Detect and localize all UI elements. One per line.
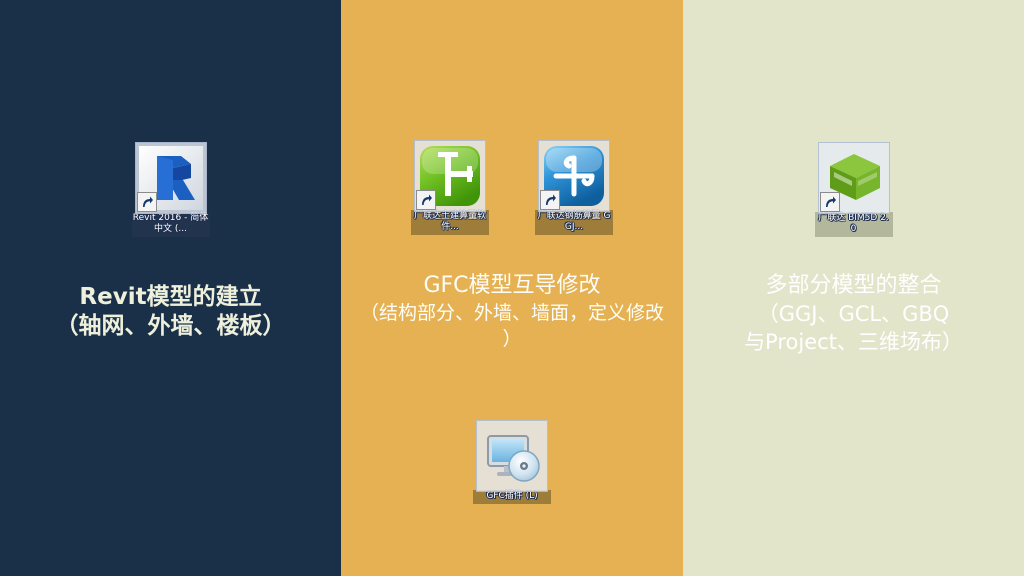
- revit-icon-art: [139, 146, 203, 210]
- desktop-icon-glodon-gangjin-ggj-shortcut[interactable]: 广联达钢筋算量 GGJ...: [534, 144, 614, 235]
- caption-line-1: GFC模型互导修改: [349, 272, 675, 300]
- caption-line-1: Revit模型的建立: [8, 283, 333, 312]
- icon-row-left: Revit 2016 - 简体中文 (...: [0, 146, 341, 237]
- caption-line-2: （轴网、外墙、楼板）: [8, 312, 333, 341]
- desktop-icon-gfc-plugin-installer[interactable]: GFC插件 (L): [472, 424, 552, 504]
- slide-root: Revit 2016 - 简体中文 (... Revit模型的建立 （轴网、外墙…: [0, 0, 1024, 576]
- caption-line-3: ）: [349, 326, 675, 352]
- caption-revit: Revit模型的建立 （轴网、外墙、楼板）: [0, 283, 341, 341]
- caption-gfc: GFC模型互导修改 （结构部分、外墙、墙面，定义修改 ）: [341, 272, 683, 352]
- icon-row-right: 广联达 BIM5D 2.0: [683, 146, 1024, 237]
- monitor-disc-icon: [480, 424, 544, 488]
- desktop-icon-revit-2016-shortcut[interactable]: Revit 2016 - 简体中文 (...: [131, 146, 211, 237]
- icon-label: 广联达钢筋算量 GGJ...: [535, 210, 613, 235]
- monitor-disc-icon-art: [480, 424, 544, 488]
- caption-line-2: （结构部分、外墙、墙面，定义修改: [349, 300, 675, 326]
- caption-line-2: （GGJ、GCL、GBQ: [691, 300, 1016, 328]
- panel-gfc: 广联达土建算量软件...: [341, 0, 683, 576]
- icon-label: 广联达土建算量软件...: [411, 210, 489, 235]
- caption-line-1: 多部分模型的整合: [691, 272, 1016, 300]
- shortcut-arrow-icon: [416, 190, 436, 210]
- caption-line-3: 与Project、三维场布）: [691, 328, 1016, 356]
- desktop-icon-glodon-tujian-suanliang-shortcut[interactable]: 广联达土建算量软件...: [410, 144, 490, 235]
- icon-label: Revit 2016 - 简体中文 (...: [132, 212, 210, 237]
- shortcut-arrow-icon: [540, 190, 560, 210]
- desktop-icon-glodon-bim5d-shortcut[interactable]: 广联达 BIM5D 2.0: [814, 146, 894, 237]
- shortcut-arrow-icon: [820, 192, 840, 212]
- glodon-ggj-icon-art: [542, 144, 606, 208]
- icon-label: GFC插件 (L): [473, 490, 551, 504]
- caption-bim5d: 多部分模型的整合 （GGJ、GCL、GBQ 与Project、三维场布）: [683, 272, 1024, 356]
- glodon-bim5d-icon-art: [822, 146, 886, 210]
- panel-bim5d: 广联达 BIM5D 2.0 多部分模型的整合 （GGJ、GCL、GBQ 与Pro…: [683, 0, 1024, 576]
- icon-row-middle: 广联达土建算量软件...: [341, 144, 683, 235]
- panel-revit: Revit 2016 - 简体中文 (... Revit模型的建立 （轴网、外墙…: [0, 0, 341, 576]
- icon-label: 广联达 BIM5D 2.0: [815, 212, 893, 237]
- icon-row-middle-bottom: GFC插件 (L): [341, 424, 683, 504]
- shortcut-arrow-icon: [137, 192, 157, 212]
- glodon-gcl-icon-art: [418, 144, 482, 208]
